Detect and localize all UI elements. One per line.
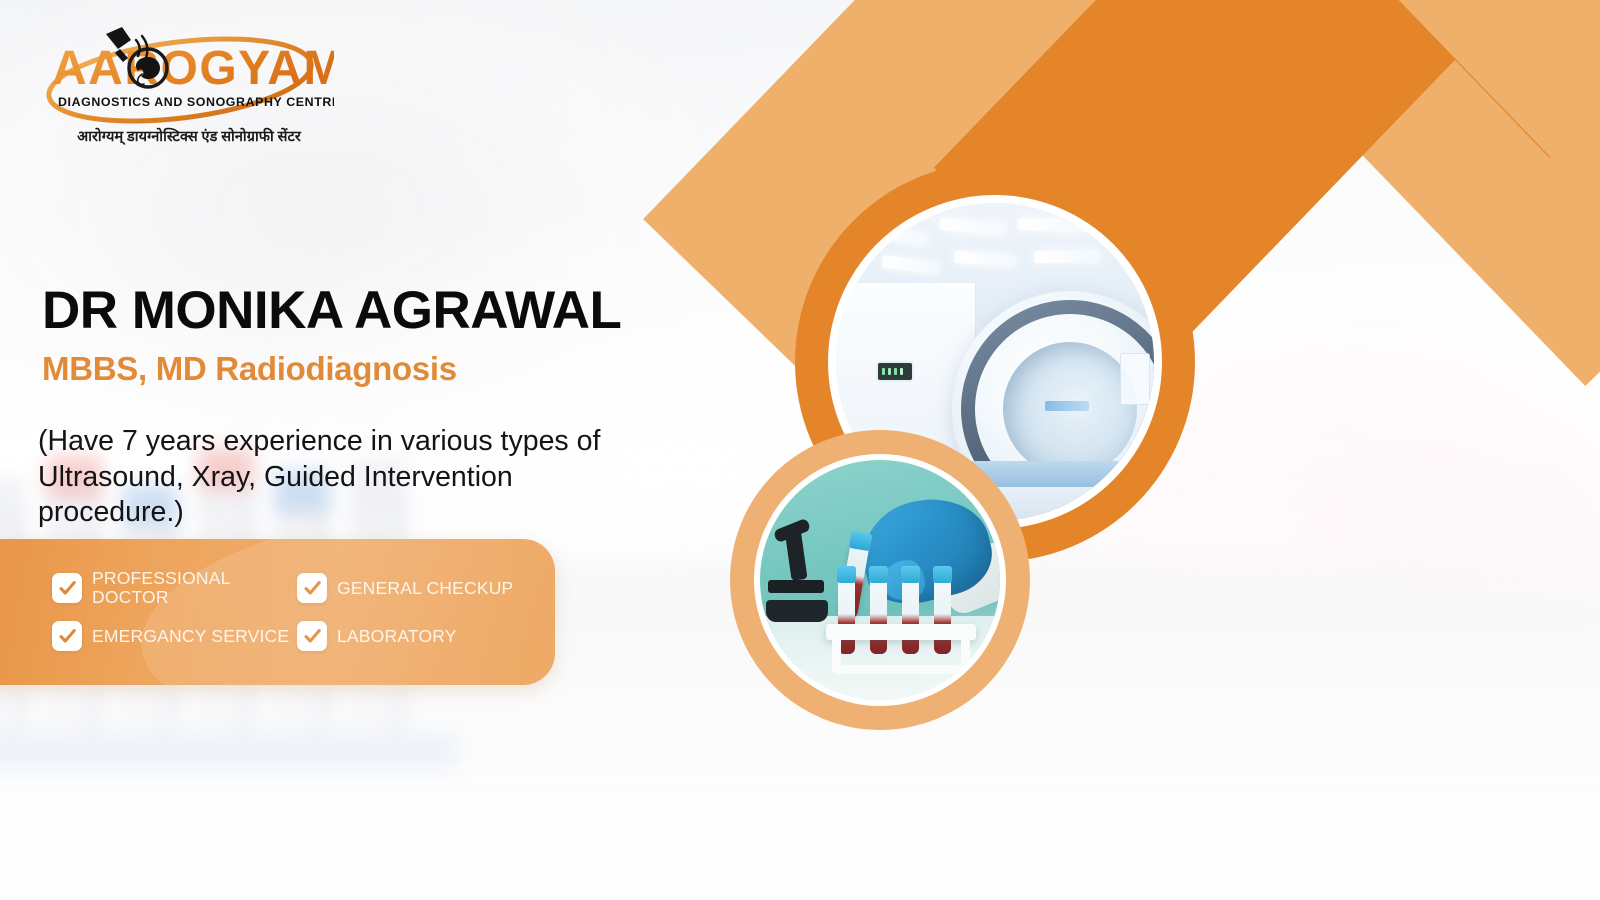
feature-item-emergancy-service[interactable]: EMERGANCY SERVICE: [52, 621, 297, 651]
feature-item-laboratory[interactable]: LABORATORY: [297, 621, 522, 651]
feature-item-general-checkup[interactable]: GENERAL CHECKUP: [297, 573, 522, 603]
laboratory-blood-sample-photo: [760, 460, 1000, 700]
mri-ceiling-light: [1034, 251, 1100, 263]
check-icon: [297, 621, 327, 651]
mri-bore-light: [1045, 401, 1089, 411]
logo-tagline-text: DIAGNOSTICS AND SONOGRAPHY CENTRE: [58, 95, 334, 109]
mri-side-panel: [1120, 353, 1150, 405]
brand-logo[interactable]: AAROGYAM DIAGNOSTICS AND SONOGRAPHY CENT…: [44, 22, 334, 142]
vial-rack: [826, 624, 976, 640]
doctor-description: (Have 7 years experience in various type…: [38, 424, 618, 531]
feature-label: LABORATORY: [337, 627, 457, 646]
features-banner: PROFESSIONAL DOCTOR GENERAL CHECKUP EMER…: [0, 539, 555, 685]
mri-control-panel: [878, 363, 912, 380]
logo-wordmark: AAROGYAM: [52, 42, 334, 95]
check-icon: [52, 621, 82, 651]
mri-ceiling-light: [1018, 218, 1088, 232]
feature-label: PROFESSIONAL DOCTOR: [92, 569, 297, 607]
doctor-name: DR MONIKA AGRAWAL: [42, 283, 621, 339]
feature-label: EMERGANCY SERVICE: [92, 627, 289, 646]
banner-canvas: AAROGYAM DIAGNOSTICS AND SONOGRAPHY CENT…: [0, 0, 1600, 900]
doctor-degree: MBBS, MD Radiodiagnosis: [42, 350, 457, 388]
mri-bore: [1003, 342, 1137, 476]
feature-item-professional-doctor[interactable]: PROFESSIONAL DOCTOR: [52, 569, 297, 607]
microscope-icon: [766, 528, 832, 632]
logo-artwork: AAROGYAM DIAGNOSTICS AND SONOGRAPHY CENT…: [44, 22, 334, 126]
logo-hindi-subtitle: आरोग्यम् डायग्नोस्टिक्स एंड सोनोग्राफी स…: [44, 126, 334, 146]
feature-label: GENERAL CHECKUP: [337, 579, 513, 598]
check-icon: [52, 573, 82, 603]
vial-rack-legs: [832, 640, 970, 674]
features-grid: PROFESSIONAL DOCTOR GENERAL CHECKUP EMER…: [52, 564, 522, 664]
check-icon: [297, 573, 327, 603]
